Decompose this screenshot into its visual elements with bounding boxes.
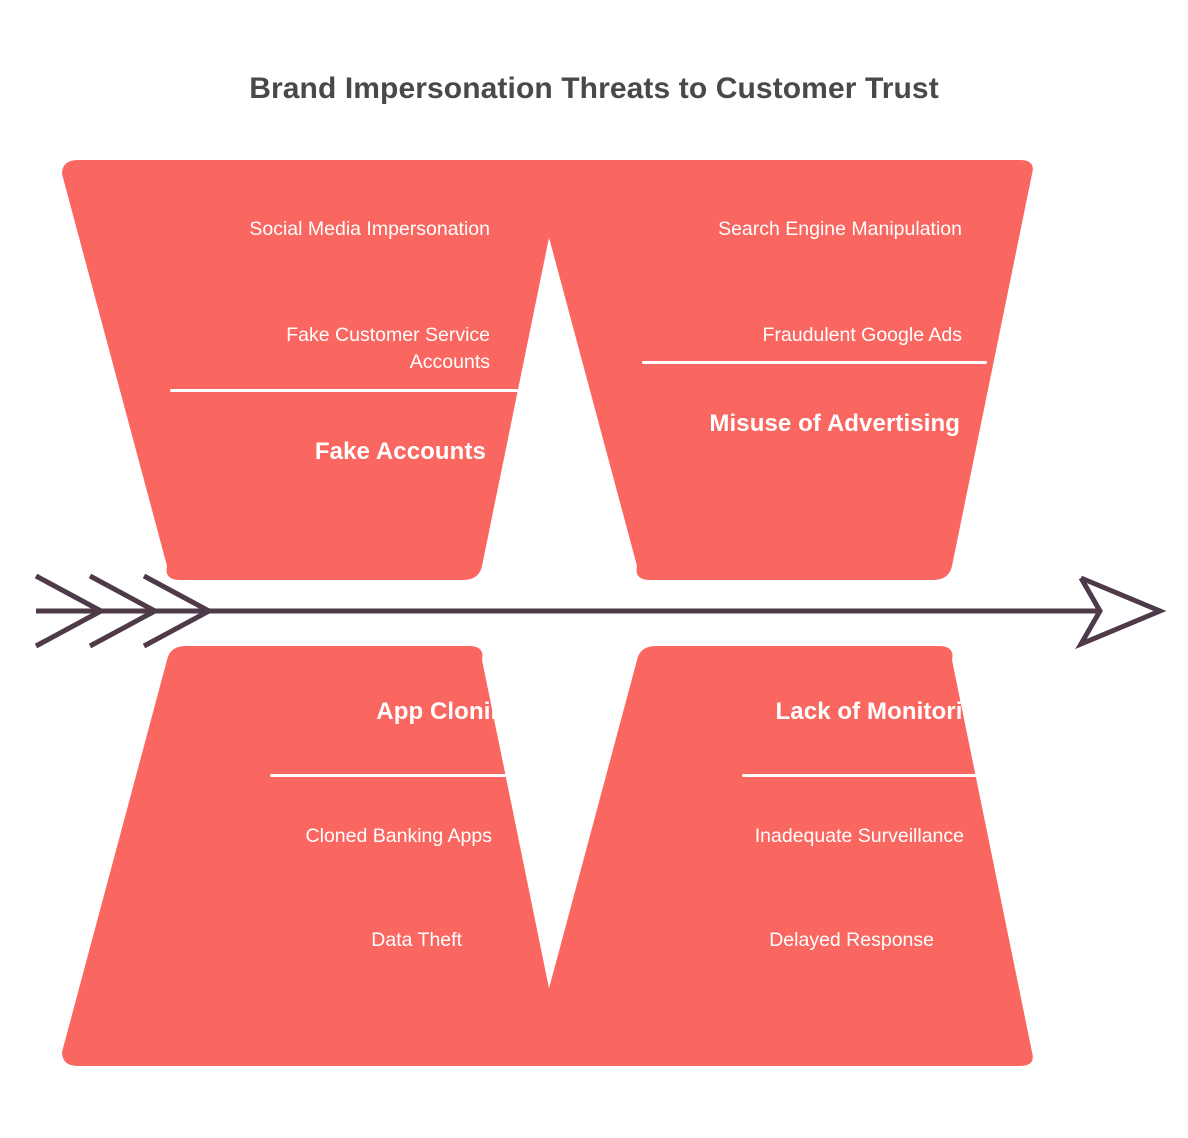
bone-misuse-advertising[interactable]: Search Engine Manipulation Fraudulent Go… [490,160,1050,580]
tail-feather-icon [36,576,101,646]
cause-label: Delayed Response [610,927,934,955]
cause-label: Fake Customer Service Accounts [168,322,490,377]
tail-feather-icon [144,576,209,646]
bone-lack-monitoring[interactable]: Lack of Monitoring Inadequate Surveillan… [490,646,1050,1066]
tail-feather-icon [90,576,155,646]
bone-heading: App Cloning [140,698,520,726]
arrowhead-icon [1081,578,1160,644]
fishbone-diagram: Brand Impersonation Threats to Customer … [0,0,1188,1138]
cause-label: Fraudulent Google Ads [638,322,962,350]
cause-label: Data Theft [140,927,462,955]
cause-label: Social Media Impersonation [168,216,490,244]
bone-divider [642,361,987,364]
page-title: Brand Impersonation Threats to Customer … [0,72,1188,106]
bone-heading: Fake Accounts [168,438,486,466]
bone-heading: Lack of Monitoring [610,698,992,726]
cause-label: Cloned Banking Apps [140,823,492,851]
bone-divider [170,389,518,392]
cause-label: Inadequate Surveillance [610,823,964,851]
bone-divider [742,774,1087,777]
cause-label: Search Engine Manipulation [638,216,962,244]
bone-heading: Misuse of Advertising [638,410,960,438]
